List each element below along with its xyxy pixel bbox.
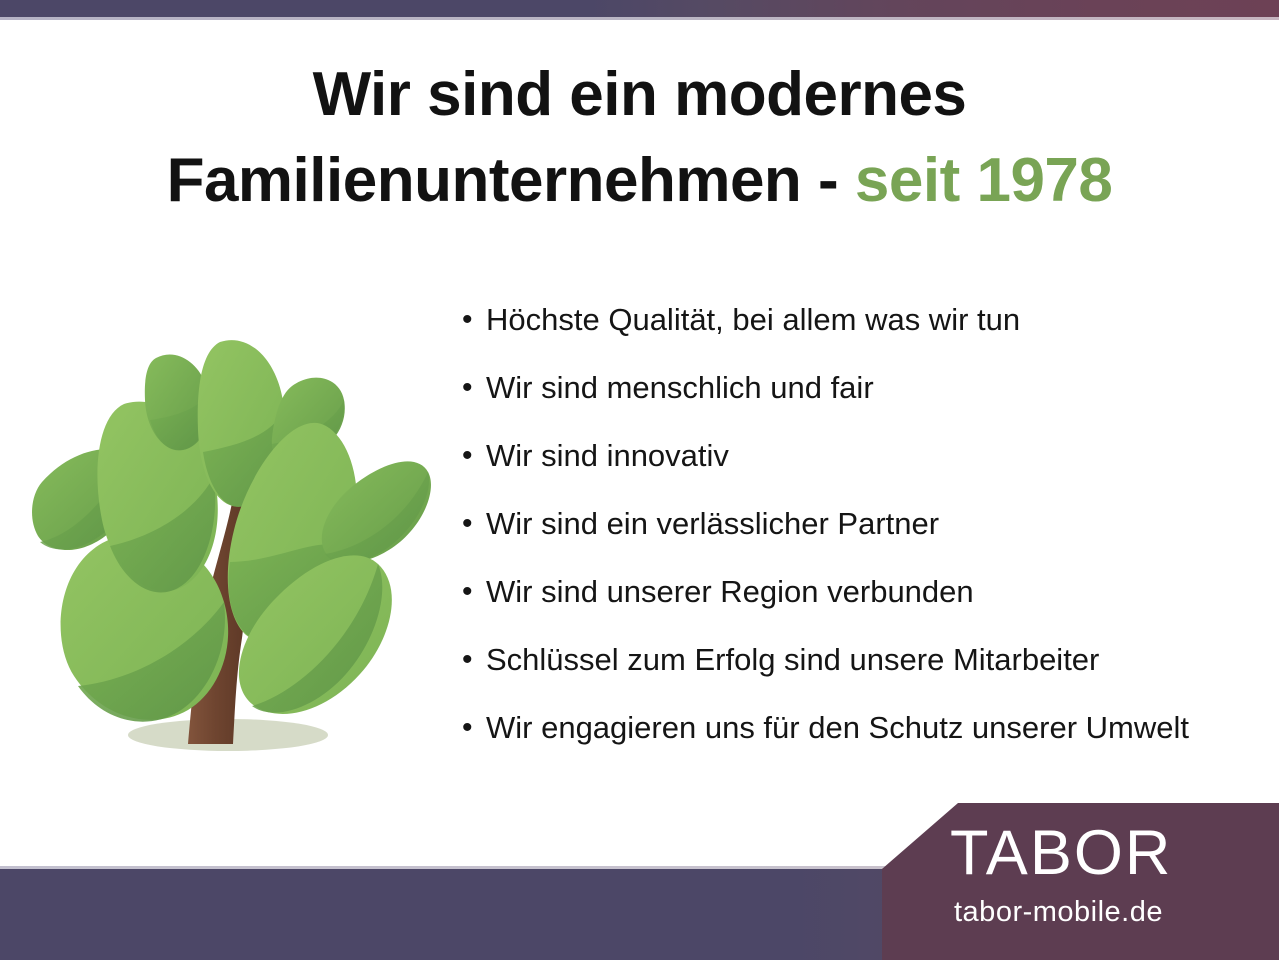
headline-accent-year: seit 1978 <box>855 146 1113 215</box>
list-item-label: Wir sind unserer Region verbunden <box>486 572 974 612</box>
list-item-label: Höchste Qualität, bei allem was wir tun <box>486 300 1020 340</box>
list-item: • Wir engagieren uns für den Schutz unse… <box>458 708 1268 776</box>
bullet-point-icon: • <box>458 300 486 340</box>
list-item-label: Wir sind ein verlässlicher Partner <box>486 504 939 544</box>
bullet-point-icon: • <box>458 436 486 476</box>
bullet-point-icon: • <box>458 640 486 680</box>
list-item-label: Wir sind innovativ <box>486 436 729 476</box>
list-item: • Wir sind ein verlässlicher Partner <box>458 504 1268 572</box>
headline-line-1: Wir sind ein modernes <box>0 52 1279 138</box>
slide-canvas: Wir sind ein modernes Familienunternehme… <box>0 0 1279 960</box>
list-item-label: Schlüssel zum Erfolg sind unsere Mitarbe… <box>486 640 1099 680</box>
list-item: • Wir sind innovativ <box>458 436 1268 504</box>
tree-logo-illustration <box>28 330 438 760</box>
tabor-wordmark: TABOR <box>950 819 1172 887</box>
list-item: • Höchste Qualität, bei allem was wir tu… <box>458 300 1268 368</box>
tabor-website-url: tabor-mobile.de <box>954 895 1163 929</box>
list-item: • Wir sind unserer Region verbunden <box>458 572 1268 640</box>
page-title: Wir sind ein modernes Familienunternehme… <box>0 52 1279 224</box>
list-item-label: Wir sind menschlich und fair <box>486 368 874 408</box>
bullet-point-icon: • <box>458 708 486 748</box>
tabor-logo-block: TABOR tabor-mobile.de <box>882 803 1279 960</box>
headline-line-2: Familienunternehmen - seit 1978 <box>0 138 1279 224</box>
list-item-label: Wir engagieren uns für den Schutz unsere… <box>486 708 1189 748</box>
top-accent-bar <box>0 0 1279 17</box>
list-item: • Schlüssel zum Erfolg sind unsere Mitar… <box>458 640 1268 708</box>
bullet-point-icon: • <box>458 368 486 408</box>
list-item: • Wir sind menschlich und fair <box>458 368 1268 436</box>
bullet-point-icon: • <box>458 572 486 612</box>
top-accent-bar-underline <box>0 17 1279 20</box>
bullet-point-icon: • <box>458 504 486 544</box>
value-bullet-list: • Höchste Qualität, bei allem was wir tu… <box>458 300 1268 776</box>
headline-line-2-plain: Familienunternehmen - <box>167 146 855 215</box>
